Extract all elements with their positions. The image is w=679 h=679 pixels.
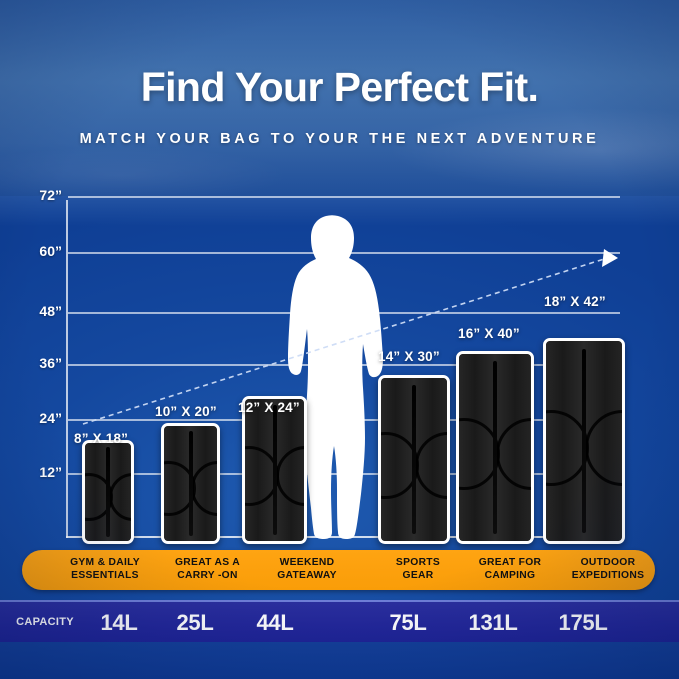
use-case-line: GREAT AS A: [155, 556, 260, 569]
use-case-cell[interactable]: OUTDOOREXPEDITIONS: [553, 556, 663, 586]
infographic-canvas: Find Your Perfect Fit. MATCH YOUR BAG TO…: [0, 0, 679, 679]
y-axis-tick-label: 24”: [6, 410, 62, 426]
duffel-bag-bar[interactable]: [161, 423, 220, 544]
use-case-bar: GYM & DAILYESSENTIALSGREAT AS ACARRY -ON…: [22, 550, 655, 590]
use-case-line: CARRY -ON: [155, 569, 260, 582]
duffel-bag-bar[interactable]: [543, 338, 625, 544]
duffel-bag-bar[interactable]: [378, 375, 450, 544]
bag-size-label: 8” X 18”: [74, 431, 128, 446]
capacity-value: 131L: [455, 610, 531, 636]
capacity-value: 75L: [373, 610, 443, 636]
capacity-value: 175L: [545, 610, 621, 636]
use-case-line: CAMPING: [455, 569, 565, 582]
duffel-bag-bar[interactable]: [242, 396, 307, 544]
duffel-bag-bar[interactable]: [82, 440, 134, 544]
bag-zipper: [106, 447, 110, 537]
bag-size-label: 10” X 20”: [155, 404, 217, 419]
bag-size-label: 16” X 40”: [458, 326, 520, 341]
bag-size-label: 14” X 30”: [378, 349, 440, 364]
use-case-cell[interactable]: GREAT AS ACARRY -ON: [155, 556, 260, 586]
use-case-cell[interactable]: SPORTSGEAR: [368, 556, 468, 586]
use-case-cell[interactable]: GREAT FORCAMPING: [455, 556, 565, 586]
use-case-line: EXPEDITIONS: [553, 569, 663, 582]
capacity-row: CAPACITY 14L25L44L75L131L175L: [0, 600, 679, 646]
y-axis-tick-label: 12”: [6, 464, 62, 480]
bag-zipper: [493, 361, 497, 533]
use-case-cell[interactable]: GYM & DAILYESSENTIALS: [45, 556, 165, 586]
use-case-line: SPORTS: [368, 556, 468, 569]
y-axis-line: [66, 200, 68, 538]
y-axis-tick-label: 72”: [6, 187, 62, 203]
y-axis-tick-label: 36”: [6, 355, 62, 371]
use-case-line: ESSENTIALS: [45, 569, 165, 582]
use-case-line: GYM & DAILY: [45, 556, 165, 569]
capacity-value: 44L: [240, 610, 310, 636]
bag-zipper: [412, 385, 416, 535]
use-case-line: GREAT FOR: [455, 556, 565, 569]
y-axis-tick-label: 48”: [6, 303, 62, 319]
y-axis-tick-label: 60”: [6, 243, 62, 259]
capacity-label: CAPACITY: [10, 616, 80, 628]
bag-size-label: 18” X 42”: [544, 294, 606, 309]
use-case-cell[interactable]: WEEKENDGATEAWAY: [252, 556, 362, 586]
bag-size-label: 12” X 24”: [238, 400, 300, 415]
use-case-line: WEEKEND: [252, 556, 362, 569]
capacity-value: 14L: [84, 610, 154, 636]
use-case-line: GATEAWAY: [252, 569, 362, 582]
bag-zipper: [273, 405, 277, 536]
gridline: [68, 196, 620, 198]
bag-zipper: [189, 431, 193, 537]
bottom-strip: [0, 642, 679, 679]
capacity-value: 25L: [160, 610, 230, 636]
bag-zipper: [582, 349, 586, 533]
use-case-line: OUTDOOR: [553, 556, 663, 569]
duffel-bag-bar[interactable]: [456, 351, 534, 544]
use-case-line: GEAR: [368, 569, 468, 582]
